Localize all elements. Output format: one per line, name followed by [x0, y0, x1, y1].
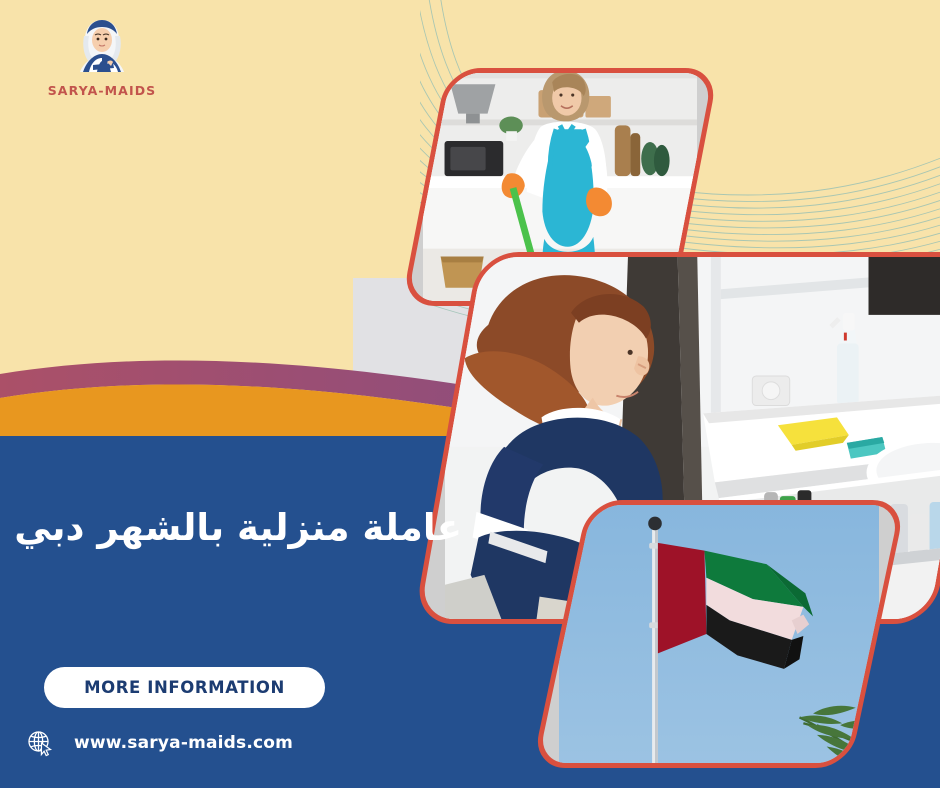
photo-uae-flag: [559, 500, 879, 768]
photo-frame-uae-flag: [532, 500, 907, 768]
poster-canvas: SARYA-MAIDS عاملة منزلية بالشهر دبي MORE…: [0, 0, 940, 788]
uae-flag-illustration: [559, 500, 879, 768]
globe-cursor-icon: [26, 729, 54, 757]
brand-logo[interactable]: SARYA-MAIDS: [40, 18, 164, 98]
page-title: عاملة منزلية بالشهر دبي: [0, 505, 470, 551]
website-url[interactable]: www.sarya-maids.com: [74, 733, 293, 753]
logo-text: SARYA-MAIDS: [40, 83, 164, 98]
hijab-woman-icon: [67, 18, 137, 80]
website-row[interactable]: www.sarya-maids.com: [26, 729, 293, 757]
more-information-button[interactable]: MORE INFORMATION: [44, 667, 325, 708]
